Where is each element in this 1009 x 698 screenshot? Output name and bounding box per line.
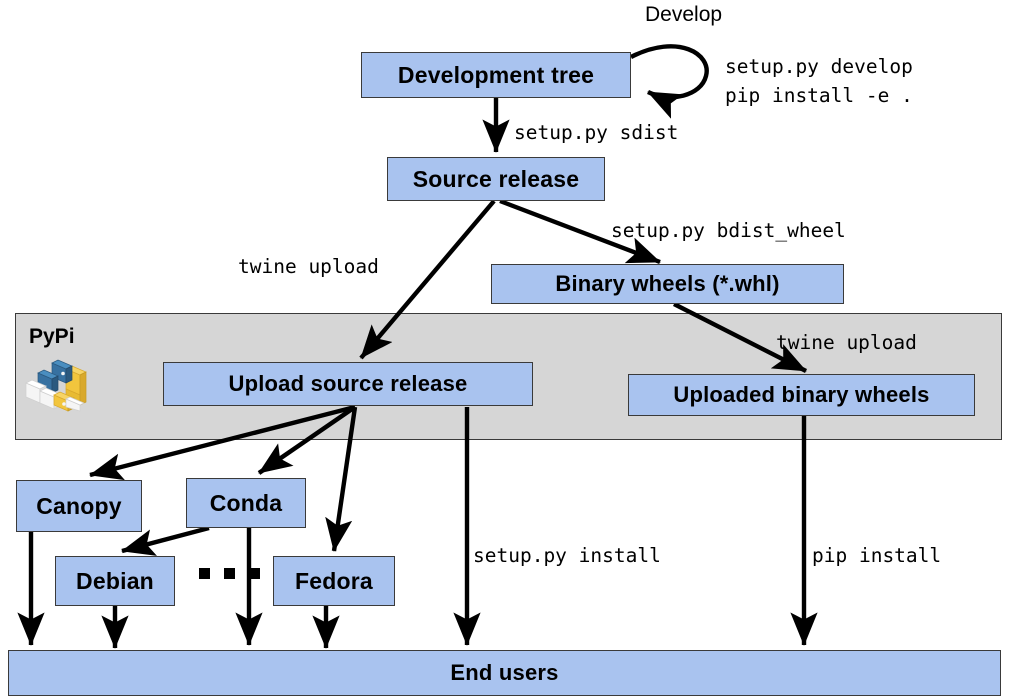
pypi-python-blocks-logo <box>22 353 94 415</box>
node-debian[interactable]: Debian <box>55 556 175 606</box>
node-upload-source-release[interactable]: Upload source release <box>163 362 533 406</box>
more-distros-ellipsis <box>199 568 260 579</box>
label-setup-py-sdist: setup.py sdist <box>514 121 678 144</box>
label-twine-upload-wheels: twine upload <box>776 331 917 354</box>
node-uploaded-binary-wheels[interactable]: Uploaded binary wheels <box>628 374 975 416</box>
label-develop: Develop <box>645 3 722 27</box>
node-development-tree[interactable]: Development tree <box>361 52 631 98</box>
label-pip-install: pip install <box>812 544 941 567</box>
edge-develop-selfloop <box>631 46 707 97</box>
ellipsis-dot <box>249 568 260 579</box>
label-setup-py-bdist-wheel: setup.py bdist_wheel <box>611 219 846 242</box>
pypi-group-label: PyPi <box>29 325 75 349</box>
label-twine-upload-source: twine upload <box>238 255 379 278</box>
node-fedora[interactable]: Fedora <box>273 556 395 606</box>
node-binary-wheels[interactable]: Binary wheels (*.whl) <box>491 264 844 304</box>
ellipsis-dot <box>224 568 235 579</box>
label-setup-py-install: setup.py install <box>473 544 661 567</box>
node-end-users[interactable]: End users <box>8 650 1001 696</box>
node-conda[interactable]: Conda <box>186 478 306 528</box>
ellipsis-dot <box>199 568 210 579</box>
node-canopy[interactable]: Canopy <box>16 480 142 532</box>
label-develop-commands: setup.py develop pip install -e . <box>725 52 913 110</box>
node-source-release[interactable]: Source release <box>387 157 605 201</box>
diagram-canvas: PyPi <box>0 0 1009 698</box>
